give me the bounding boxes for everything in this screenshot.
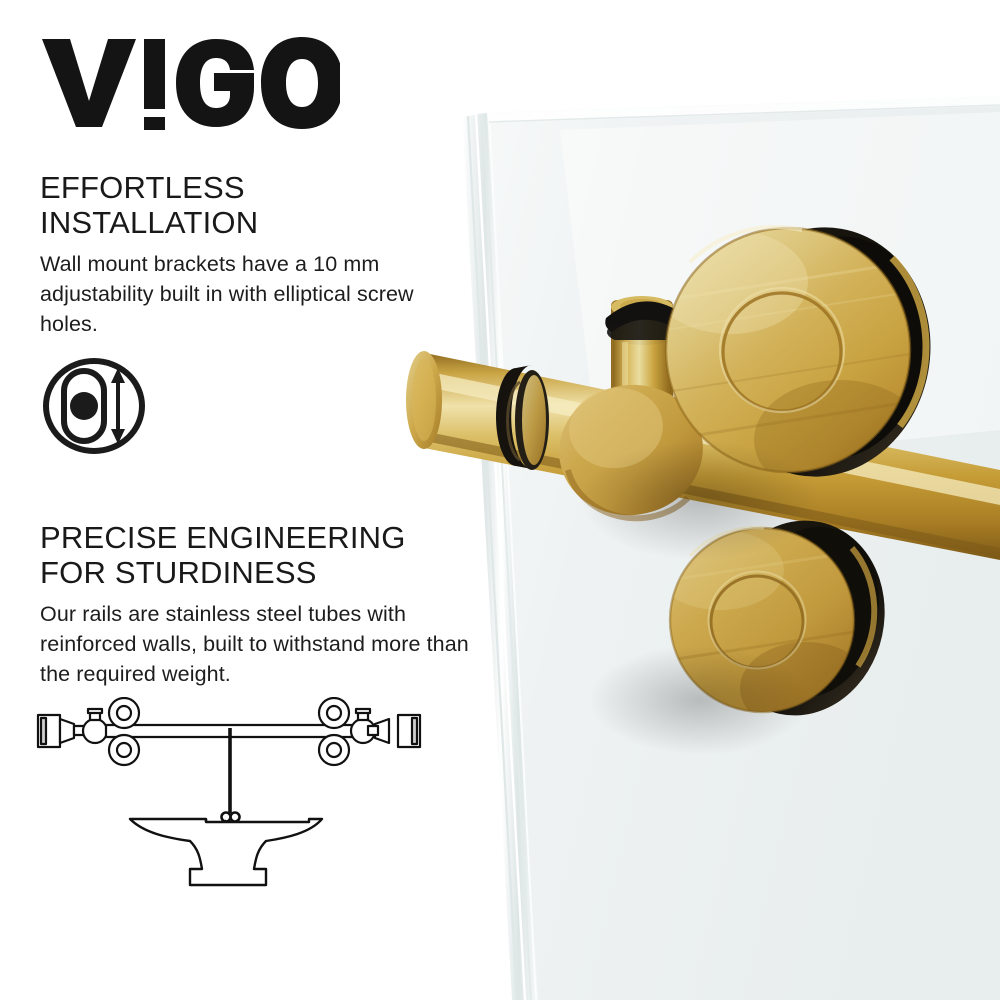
support-rail-tube (406, 351, 1000, 560)
vigo-logo (40, 35, 340, 130)
upper-roller-wheel (652, 210, 950, 500)
feature-panel: EFFORTLESS INSTALLATION Wall mount brack… (0, 0, 1000, 1000)
bracket-ball-left (83, 719, 107, 743)
anvil (130, 819, 322, 885)
feature-effortless-installation: EFFORTLESS INSTALLATION Wall mount brack… (40, 170, 490, 339)
logo-letter-o (261, 37, 340, 129)
logo-letter-g (176, 39, 254, 127)
logo-letter-i (144, 39, 165, 109)
rail-anvil-strength-icon (34, 697, 424, 889)
feature-precise-engineering: PRECISE ENGINEERING FOR STURDINESS Our r… (40, 520, 490, 689)
adjustable-slot-icon (38, 357, 150, 455)
logo-letter-v (42, 39, 136, 127)
glass-panel (462, 96, 1000, 1000)
bracket-front-cap (551, 376, 712, 525)
rear-bracket-post (605, 296, 682, 426)
black-collar-ring (496, 365, 549, 470)
feature-headline: EFFORTLESS INSTALLATION (40, 170, 490, 240)
lower-roller-wheel (656, 505, 903, 734)
logo-letter-i-dot (144, 117, 165, 130)
feature-body: Our rails are stainless steel tubes with… (40, 599, 480, 689)
feature-headline: PRECISE ENGINEERING FOR STURDINESS (40, 520, 490, 590)
feature-body: Wall mount brackets have a 10 mm adjusta… (40, 249, 460, 339)
